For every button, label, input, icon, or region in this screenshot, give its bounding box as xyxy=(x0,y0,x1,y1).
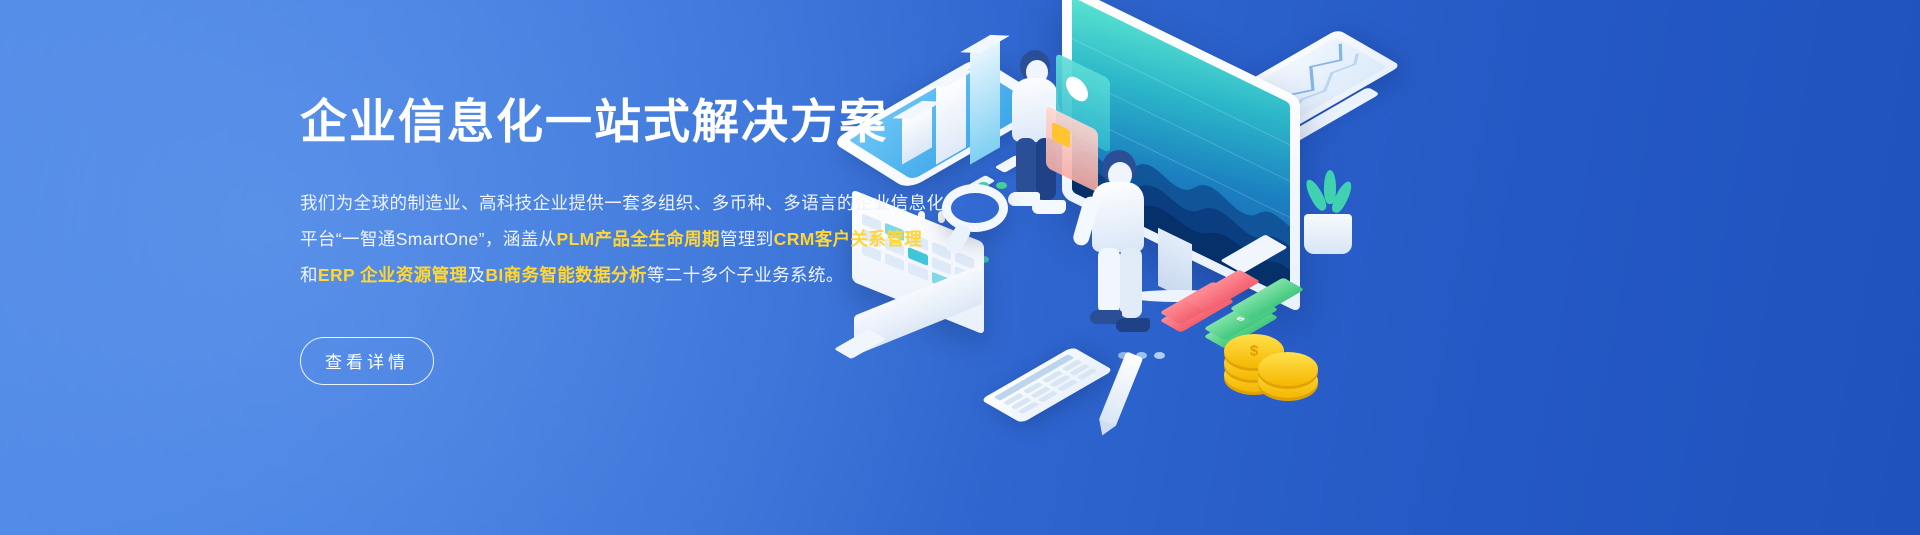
page-title: 企业信息化一站式解决方案 xyxy=(300,96,990,149)
potted-plant-icon xyxy=(1294,160,1364,256)
leg-right xyxy=(1120,248,1142,318)
calculator-icon xyxy=(981,347,1114,424)
text-run: 我们为全球的制造业、高科技企业提供一套多组织、多币种、多语言的企业信息化 xyxy=(300,193,944,213)
view-details-button[interactable]: 查看详情 xyxy=(300,337,434,385)
shoe-right xyxy=(1032,200,1066,214)
text-run: 平台“一智通SmartOne”，涵盖从 xyxy=(300,229,557,249)
text-run: 等二十多个子业务系统。 xyxy=(647,265,844,285)
text-run: 及 xyxy=(467,265,485,285)
text-run: 管理到 xyxy=(720,229,774,249)
coin-symbol: $ xyxy=(1250,343,1258,360)
leg-left xyxy=(1016,138,1036,196)
person-female xyxy=(1082,150,1162,340)
leg-left xyxy=(1098,248,1120,314)
highlight-bi: BI商务智能数据分析 xyxy=(485,265,647,285)
description-line-2: 平台“一智通SmartOne”，涵盖从PLM产品全生命周期管理到CRM客户关系管… xyxy=(300,221,980,257)
coin xyxy=(1258,352,1318,386)
description-line-1: 我们为全球的制造业、高科技企业提供一套多组织、多币种、多语言的企业信息化 xyxy=(300,185,980,221)
flower-pot xyxy=(1304,214,1352,254)
torso xyxy=(1092,182,1144,252)
description-line-3: 和ERP 企业资源管理及BI商务智能数据分析等二十多个子业务系统。 xyxy=(300,257,980,293)
pen-icon xyxy=(1099,351,1143,426)
hero-copy: 企业信息化一站式解决方案 我们为全球的制造业、高科技企业提供一套多组织、多币种、… xyxy=(300,96,990,385)
dot xyxy=(1154,352,1165,359)
highlight-crm: CRM客户关系管理 xyxy=(774,229,922,249)
text-run: 和 xyxy=(300,265,318,285)
coin-stack-icon: $ $ $ xyxy=(1224,318,1320,398)
shoe-right xyxy=(1116,318,1150,332)
highlight-erp: ERP 企业资源管理 xyxy=(318,265,468,285)
hero-banner: 企业信息化一站式解决方案 我们为全球的制造业、高科技企业提供一套多组织、多币种、… xyxy=(0,0,1920,535)
highlight-plm: PLM产品全生命周期 xyxy=(557,229,720,249)
hero-description: 我们为全球的制造业、高科技企业提供一套多组织、多币种、多语言的企业信息化 平台“… xyxy=(300,185,980,293)
